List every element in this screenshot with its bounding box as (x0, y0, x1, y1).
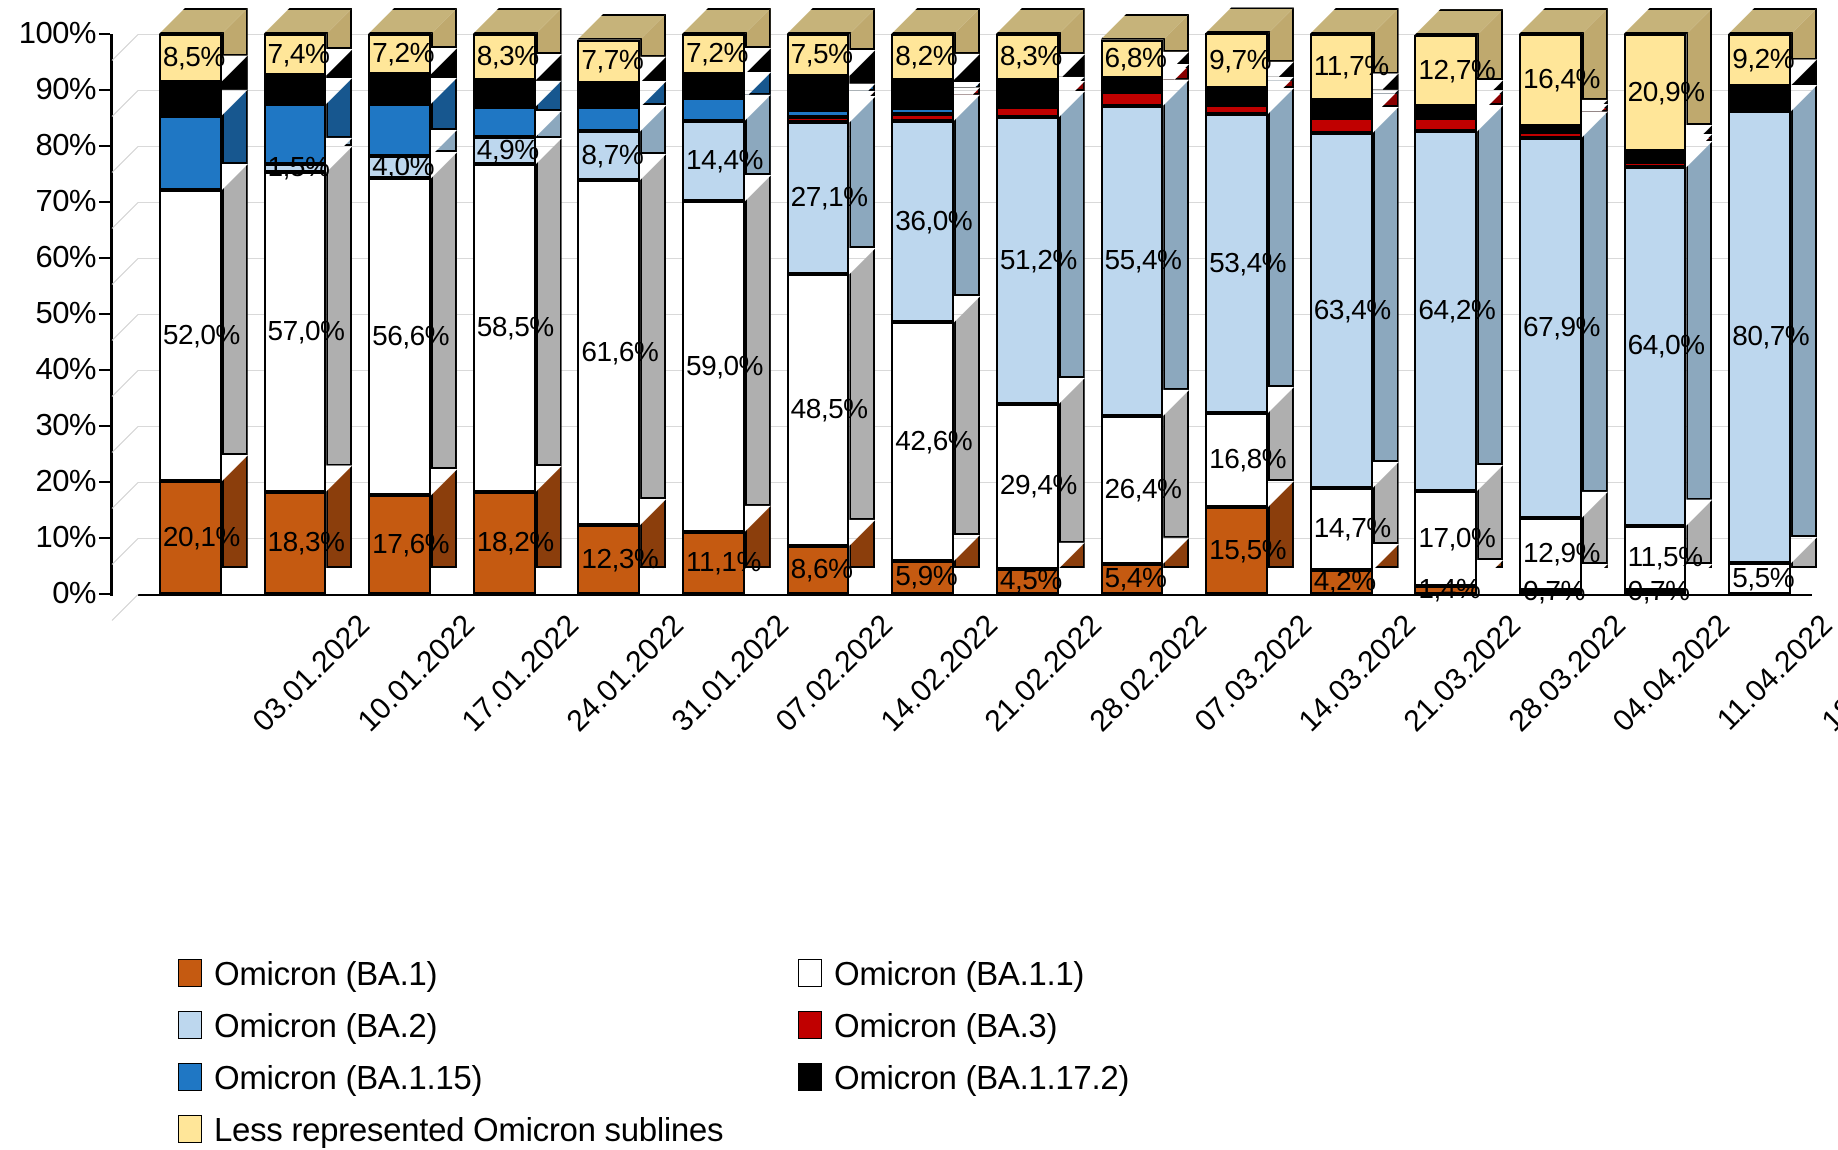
bar-group[interactable]: 8,6%48,5%27,1%7,5% (787, 34, 850, 594)
y-axis-tick (99, 425, 110, 427)
y-axis-tick (99, 201, 110, 203)
bar-segment-side (1163, 538, 1189, 568)
bar-group[interactable]: 17,6%56,6%4,0%7,2% (368, 34, 431, 594)
bar-segment-side (1059, 77, 1085, 81)
bar-segment-side (222, 90, 248, 164)
y-axis-tick-label: 40% (0, 353, 96, 384)
bar-data-label: 8,6% (791, 555, 853, 583)
bar-data-label: 15,5% (1209, 536, 1286, 564)
chart-legend: Omicron (BA.1)Omicron (BA.1.1)Omicron (B… (178, 952, 1578, 1150)
bar-segment[interactable] (159, 116, 222, 190)
bar-data-label: 58,5% (477, 313, 554, 341)
y-axis-tick (99, 593, 110, 595)
bar-segment-side (954, 82, 980, 87)
bar-data-label: 4,0% (372, 152, 434, 180)
bar-segment-side (1373, 544, 1399, 568)
bar-data-label: 8,3% (1000, 42, 1062, 70)
bar-data-label: 5,9% (895, 562, 957, 590)
bar-segment[interactable] (577, 107, 640, 131)
bar-segment-side (326, 78, 352, 138)
y-axis-tick (99, 369, 110, 371)
bar-data-label: 12,9% (1523, 539, 1600, 567)
depth-gridline (112, 594, 139, 621)
bar-segment[interactable] (891, 114, 954, 121)
bar-data-label: 17,6% (372, 530, 449, 558)
bar-segment-side (1268, 77, 1294, 88)
bar-segment-side (640, 57, 666, 82)
bar-segment-side (849, 248, 875, 520)
depth-gridline (112, 146, 139, 173)
bar-data-label: 11,1% (686, 548, 761, 576)
y-axis-tick-label: 60% (0, 241, 96, 272)
bar-data-label: 4,2% (1314, 567, 1376, 595)
depth-gridline (112, 34, 139, 61)
depth-gridline (112, 202, 139, 229)
legend-label: Omicron (BA.2) (214, 1009, 437, 1042)
legend-swatch (798, 1011, 822, 1039)
bar-data-label: 16,8% (1209, 445, 1286, 473)
bar-segment-side (222, 164, 248, 455)
bar-segment[interactable] (1205, 103, 1268, 107)
bar-data-label: 12,3% (581, 545, 658, 573)
bar-data-label: 29,4% (1000, 471, 1077, 499)
bar-segment-side (1477, 560, 1503, 568)
bar-segment[interactable] (996, 107, 1059, 117)
bar-segment-side (1268, 62, 1294, 77)
bar-segment[interactable] (787, 117, 850, 123)
bar-data-label: 7,2% (372, 39, 434, 67)
bar-segment-side (1373, 90, 1399, 107)
bar-data-label: 9,2% (1732, 45, 1794, 73)
depth-gridline (112, 90, 139, 117)
bar-segment-side (1686, 125, 1712, 134)
bar-segment[interactable] (1414, 116, 1477, 120)
bar-segment-side (431, 152, 457, 469)
bar-data-label: 61,6% (581, 338, 658, 366)
plot-area: 20,1%52,0%8,5%18,3%57,0%1,5%7,4%17,6%56,… (112, 34, 1812, 594)
legend-label: Omicron (BA.1.1) (834, 957, 1084, 990)
bar-segment[interactable] (1101, 90, 1164, 94)
bar-data-label: 5,4% (1105, 564, 1167, 592)
bar-segment-side (536, 111, 562, 138)
bar-segment-side (1059, 91, 1085, 378)
bar-data-label: 53,4% (1209, 249, 1286, 277)
bar-segment[interactable] (891, 80, 954, 109)
bar-segment[interactable] (996, 103, 1059, 107)
bar-segment[interactable] (577, 83, 640, 108)
bar-segment-side (954, 88, 980, 95)
bar-segment[interactable] (473, 107, 536, 137)
bar-data-label: 51,2% (1000, 246, 1077, 274)
bar-data-label: 52,0% (163, 321, 240, 349)
bar-segment-side (954, 95, 980, 297)
bar-group[interactable]: 15,5%16,8%53,4%9,7% (1205, 34, 1268, 594)
bar-segment-side (1582, 100, 1608, 104)
bar-group[interactable]: 5,5%80,7%9,2% (1728, 34, 1791, 594)
bar-data-label: 59,0% (686, 352, 763, 380)
y-axis-tick-label: 0% (0, 577, 96, 608)
bar-segment-side (640, 105, 666, 154)
bar-segment-side (1477, 105, 1503, 465)
bar-data-label: 14,4% (686, 146, 763, 174)
bar-segment[interactable] (1205, 88, 1268, 103)
bar-data-label: 42,6% (895, 427, 972, 455)
bar-segment[interactable] (996, 80, 1059, 102)
bar-data-label: 8,5% (163, 43, 225, 71)
bar-segment[interactable] (368, 104, 431, 156)
bar-data-label: 7,4% (268, 40, 330, 68)
bar-segment[interactable] (787, 76, 850, 110)
legend-item[interactable]: Omicron (BA.2) (178, 1004, 798, 1046)
bar-data-label: 7,7% (581, 46, 643, 74)
bar-group[interactable]: 4,2%14,7%63,4%11,7% (1310, 34, 1373, 594)
bar-group[interactable]: 0,7%11,5%64,0%20,9% (1624, 34, 1687, 594)
bar-group[interactable]: 4,5%29,4%51,2%8,3% (996, 34, 1059, 594)
bar-segment[interactable] (1310, 100, 1373, 116)
bar-segment-side (222, 56, 248, 90)
legend-label: Omicron (BA.1.17.2) (834, 1061, 1129, 1094)
bar-segment-side (431, 78, 457, 130)
y-axis-tick-label: 70% (0, 185, 96, 216)
bar-data-label: 8,2% (895, 42, 957, 70)
y-axis-tick-label: 80% (0, 129, 96, 160)
bar-data-label: 20,9% (1628, 78, 1705, 106)
bar-data-label: 80,7% (1732, 322, 1809, 350)
bar-data-label: 55,4% (1105, 246, 1182, 274)
bar-data-label: 17,0% (1418, 524, 1495, 552)
y-axis-tick (99, 313, 110, 315)
legend-item[interactable]: Omicron (BA.1.17.2) (798, 1056, 1418, 1098)
legend-label: Omicron (BA.3) (834, 1009, 1057, 1042)
bar-data-label: 20,1% (163, 523, 240, 551)
bar-segment-side (954, 296, 980, 535)
bar-segment-side (1686, 134, 1712, 138)
bar-data-label: 16,4% (1523, 65, 1600, 93)
bar-data-label: 7,2% (686, 39, 748, 67)
bar-segment[interactable] (1624, 160, 1687, 164)
bar-segment-side (536, 81, 562, 111)
bar-group[interactable]: 18,3%57,0%1,5%7,4% (264, 34, 327, 594)
bar-segment-side (640, 154, 666, 499)
bar-segment-side (1059, 543, 1085, 568)
legend-label: Less represented Omicron sublines (214, 1113, 723, 1146)
y-axis-tick (99, 33, 110, 35)
legend-swatch (178, 1063, 202, 1091)
bar-data-label: 8,3% (477, 42, 539, 70)
bar-data-label: 4,5% (1000, 566, 1062, 594)
bar-segment[interactable] (1414, 106, 1477, 116)
legend-swatch (798, 1063, 822, 1091)
legend-item[interactable]: Less represented Omicron sublines (178, 1108, 798, 1150)
bar-segment[interactable] (891, 108, 954, 113)
bar-segment-side (326, 49, 352, 78)
y-axis-tick-label: 100% (0, 17, 96, 48)
legend-swatch (798, 959, 822, 987)
bar-group[interactable]: 12,3%61,6%8,7%7,7% (577, 34, 640, 594)
bar-segment-side (640, 81, 666, 105)
bar-segment-side (536, 54, 562, 80)
bar-segment-side (745, 72, 771, 94)
legend-swatch (178, 1115, 202, 1143)
bar-group[interactable]: 1,4%17,0%64,2%12,7% (1414, 34, 1477, 594)
bar-segment-side (954, 54, 980, 83)
bar-segment-side (849, 520, 875, 568)
bar-data-label: 26,4% (1105, 475, 1182, 503)
bar-data-label: 11,7% (1314, 52, 1389, 80)
bar-segment-side (1268, 77, 1294, 81)
bar-segment[interactable] (787, 110, 850, 117)
bar-segment[interactable] (159, 82, 222, 116)
bar-data-label: 1,4% (1418, 575, 1480, 603)
bar-data-label: 8,7% (581, 141, 643, 169)
y-axis-tick-label: 50% (0, 297, 96, 328)
bar-segment-side (1582, 112, 1608, 492)
bar-data-label: 36,0% (895, 207, 972, 235)
bar-group[interactable]: 20,1%52,0%8,5% (159, 34, 222, 594)
bar-group[interactable]: 18,2%58,5%4,9%8,3% (473, 34, 536, 594)
bar-segment[interactable] (1519, 130, 1582, 134)
bar-segment-side (745, 175, 771, 505)
bar-data-label: 64,2% (1418, 296, 1495, 324)
legend-item[interactable]: Omicron (BA.3) (798, 1004, 1418, 1046)
bar-segment-side (1791, 537, 1817, 568)
bar-data-label: 11,5% (1628, 543, 1703, 571)
y-axis-tick-label: 90% (0, 73, 96, 104)
bar-segment-side (1686, 141, 1712, 499)
bar-data-label: 5,5% (1732, 564, 1794, 592)
bar-segment-side (1163, 64, 1189, 68)
y-axis-tick-label: 20% (0, 465, 96, 496)
bar-segment-side (431, 130, 457, 152)
legend-item[interactable]: Omicron (BA.1) (178, 952, 798, 994)
bar-data-label: 6,8% (1105, 44, 1167, 72)
depth-gridline (112, 258, 139, 285)
bar-segment[interactable] (473, 80, 536, 106)
bar-segment[interactable] (1624, 151, 1687, 160)
y-axis-tick-label: 30% (0, 409, 96, 440)
bar-data-label: 4,9% (477, 136, 539, 164)
y-axis-tick (99, 257, 110, 259)
bar-data-label: 56,6% (372, 322, 449, 350)
bar-data-label: 48,5% (791, 395, 868, 423)
bar-data-label: 9,7% (1209, 46, 1271, 74)
bar-segment[interactable] (1519, 126, 1582, 130)
bar-segment-side (1163, 65, 1189, 80)
bar-data-label: 12,7% (1418, 56, 1495, 84)
bar-segment-side (1163, 80, 1189, 390)
bar-segment[interactable] (368, 74, 431, 104)
bar-segment-side (954, 535, 980, 568)
legend-swatch (178, 1011, 202, 1039)
bar-segment-side (1059, 54, 1085, 76)
legend-item[interactable]: Omicron (BA.1.1) (798, 952, 1418, 994)
bar-segment-side (1059, 378, 1085, 543)
bar-segment-side (1163, 390, 1189, 538)
legend-label: Omicron (BA.1) (214, 957, 437, 990)
bar-segment-side (326, 146, 352, 465)
bar-group[interactable]: 5,9%42,6%36,0%8,2% (891, 34, 954, 594)
depth-gridline (112, 370, 139, 397)
bar-segment-side (1268, 88, 1294, 387)
bar-segment[interactable] (1728, 86, 1791, 112)
bar-segment-side (849, 50, 875, 84)
bar-segment[interactable] (264, 75, 327, 104)
bar-data-label: 57,0% (268, 317, 345, 345)
bar-data-label: 14,7% (1314, 514, 1391, 542)
bar-segment-side (745, 48, 771, 72)
bar-segment-side (1477, 91, 1503, 106)
bar-segment-side (1373, 107, 1399, 462)
bar-segment-side (1582, 104, 1608, 108)
depth-gridline (112, 482, 139, 509)
bar-segment-side (849, 96, 875, 248)
bar-group[interactable]: 5,4%26,4%55,4%6,8% (1101, 34, 1164, 594)
bar-segment[interactable] (1101, 78, 1164, 90)
bar-segment-side (849, 91, 875, 97)
depth-gridline (112, 426, 139, 453)
y-axis-tick-label: 10% (0, 521, 96, 552)
bar-data-label: 7,5% (791, 40, 853, 68)
bar-data-label: 67,9% (1523, 313, 1600, 341)
bar-data-label: 64,0% (1628, 331, 1705, 359)
y-axis-tick (99, 145, 110, 147)
bar-group[interactable]: 11,1%59,0%14,4%7,2% (682, 34, 745, 594)
depth-gridline (112, 538, 139, 565)
bar-data-label: 0,7% (1523, 577, 1585, 605)
bar-segment-side (536, 138, 562, 466)
legend-label: Omicron (BA.1.15) (214, 1061, 482, 1094)
bar-data-label: 27,1% (791, 183, 868, 211)
legend-swatch (178, 959, 202, 987)
bar-data-label: 18,3% (268, 528, 345, 556)
bar-segment[interactable] (682, 98, 745, 120)
bar-group[interactable]: 0,7%12,9%67,9%16,4% (1519, 34, 1582, 594)
bar-data-label: 1,5% (268, 153, 330, 181)
chart-root: 0%10%20%30%40%50%60%70%80%90%100% 20,1%5… (0, 0, 1838, 1115)
bar-segment-side (431, 48, 457, 78)
bar-segment[interactable] (1310, 116, 1373, 120)
bar-segment[interactable] (682, 74, 745, 98)
y-axis-tick (99, 89, 110, 91)
bar-segment-side (1791, 85, 1817, 537)
depth-gridline (112, 314, 139, 341)
legend-item[interactable]: Omicron (BA.1.15) (178, 1056, 798, 1098)
bar-data-label: 63,4% (1314, 296, 1391, 324)
bar-segment-side (1163, 52, 1189, 64)
y-axis-tick (99, 481, 110, 483)
y-axis-tick (99, 537, 110, 539)
bar-data-label: 18,2% (477, 528, 554, 556)
bar-data-label: 0,7% (1628, 577, 1690, 605)
bar-segment-side (1791, 60, 1817, 86)
